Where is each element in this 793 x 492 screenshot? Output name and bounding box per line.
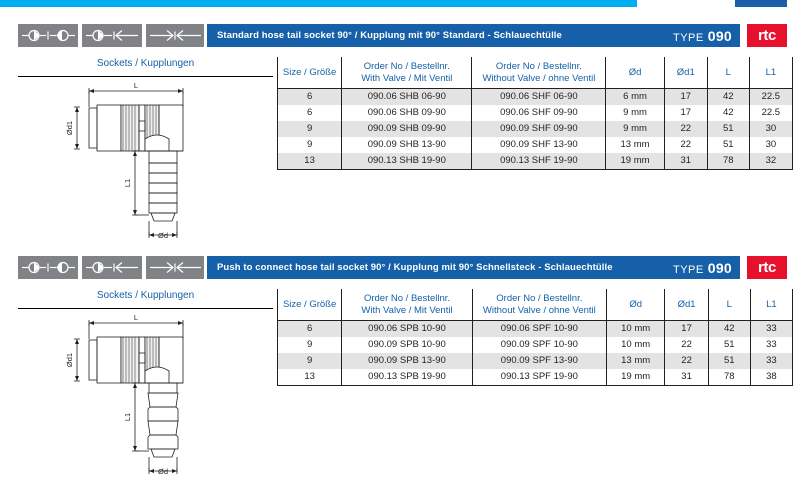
cell-size: 13 [278, 153, 342, 169]
cell-size: 13 [278, 369, 342, 385]
flow-arrows-symbol-icon [146, 256, 206, 279]
technical-drawing-standard: L Ød1 L1 Ød [18, 77, 273, 257]
drawing-panel-title: Sockets / Kupplungen [18, 282, 273, 309]
table-header-row: Size / Größe Order No / Bestellnr. With … [278, 57, 793, 89]
cell-l1: 22.5 [749, 105, 792, 121]
section-push-to-connect: Push to connect hose tail socket 90° / K… [0, 256, 793, 492]
cell-l: 78 [707, 153, 749, 169]
cell-od1: 22 [664, 137, 707, 153]
cell-l: 78 [708, 369, 750, 385]
cell-od1: 22 [664, 121, 707, 137]
cell-order-with-valve: 090.13 SHB 19-90 [342, 153, 472, 169]
cell-order-without-valve: 090.06 SHF 06-90 [472, 89, 606, 105]
cell-l1: 22.5 [749, 89, 792, 105]
cell-order-without-valve: 090.13 SHF 19-90 [472, 153, 606, 169]
top-accent-bar-navy [735, 0, 787, 7]
section-header-bar: Standard hose tail socket 90° / Kupplung… [0, 24, 793, 47]
cell-l1: 33 [750, 337, 792, 353]
cell-order-with-valve: 090.06 SPB 10-90 [342, 321, 473, 337]
col-header-order-with-valve: Order No / Bestellnr. With Valve / Mit V… [342, 289, 473, 321]
col-header-l: L [708, 289, 750, 321]
col-header-l1: L1 [749, 57, 792, 89]
rtc-logo: rtc [747, 24, 787, 47]
cell-l: 51 [708, 337, 750, 353]
coupling-half-symbol-icon [82, 24, 144, 47]
cell-od1: 17 [665, 321, 708, 337]
col-header-order-without-valve: Order No / Bestellnr. Without Valve / oh… [472, 57, 606, 89]
table-row: 9090.09 SHB 09-90090.09 SHF 09-909 mm225… [278, 121, 793, 137]
cell-order-without-valve: 090.09 SPF 10-90 [472, 337, 606, 353]
cell-l: 42 [707, 105, 749, 121]
cell-l1: 38 [750, 369, 792, 385]
dim-label-od: Ød [157, 467, 167, 476]
cell-od1: 22 [665, 337, 708, 353]
cell-order-with-valve: 090.09 SPB 13-90 [342, 353, 473, 369]
cell-od1: 31 [664, 153, 707, 169]
cell-order-with-valve: 090.13 SPB 19-90 [342, 369, 473, 385]
cell-l: 51 [707, 121, 749, 137]
dim-label-od: Ød [157, 231, 167, 240]
cell-order-without-valve: 090.06 SPF 10-90 [472, 321, 606, 337]
type-badge: TYPE 090 [673, 260, 732, 276]
col-header-od1: Ød1 [664, 57, 707, 89]
rtc-logo-text: rtc [758, 260, 776, 275]
cell-size: 6 [278, 105, 342, 121]
cell-order-with-valve: 090.09 SPB 10-90 [342, 337, 473, 353]
cell-l1: 30 [749, 121, 792, 137]
rtc-logo: rtc [747, 256, 787, 279]
cell-order-without-valve: 090.09 SHF 13-90 [472, 137, 606, 153]
table-row: 9090.09 SPB 10-90090.09 SPF 10-9010 mm22… [278, 337, 793, 353]
section-title-bar: Push to connect hose tail socket 90° / K… [207, 256, 740, 279]
col-header-od: Ød [606, 289, 665, 321]
table-row: 13090.13 SHB 19-90090.13 SHF 19-9019 mm3… [278, 153, 793, 169]
cell-od: 10 mm [606, 321, 665, 337]
table-body: 6090.06 SPB 10-90090.06 SPF 10-9010 mm17… [278, 321, 793, 386]
cell-l: 42 [707, 89, 749, 105]
section-title: Push to connect hose tail socket 90° / K… [217, 263, 613, 273]
cell-l: 42 [708, 321, 750, 337]
cell-order-without-valve: 090.09 SHF 09-90 [472, 121, 606, 137]
cell-od: 9 mm [606, 121, 664, 137]
dim-label-l: L [133, 313, 137, 322]
cell-order-without-valve: 090.13 SPF 19-90 [472, 369, 606, 385]
cell-od: 13 mm [606, 137, 664, 153]
table-row: 9090.09 SHB 13-90090.09 SHF 13-9013 mm22… [278, 137, 793, 153]
col-header-size: Size / Größe [278, 57, 342, 89]
type-badge: TYPE 090 [673, 28, 732, 44]
table-row: 6090.06 SPB 10-90090.06 SPF 10-9010 mm17… [278, 321, 793, 337]
drawing-panel-title: Sockets / Kupplungen [18, 50, 273, 77]
dim-label-od1: Ød1 [65, 121, 74, 135]
table-row: 6090.06 SHB 06-90090.06 SHF 06-906 mm174… [278, 89, 793, 105]
dim-label-l1: L1 [123, 179, 132, 187]
cell-od: 6 mm [606, 89, 664, 105]
cell-order-with-valve: 090.09 SHB 13-90 [342, 137, 472, 153]
cell-order-with-valve: 090.06 SHB 09-90 [342, 105, 472, 121]
cell-order-without-valve: 090.06 SHF 09-90 [472, 105, 606, 121]
cell-od1: 31 [665, 369, 708, 385]
section-standard: Standard hose tail socket 90° / Kupplung… [0, 24, 793, 246]
coupling-connected-symbol-icon [18, 24, 80, 47]
cell-od1: 17 [664, 89, 707, 105]
cell-od: 19 mm [606, 153, 664, 169]
spec-table-push-to-connect: Size / Größe Order No / Bestellnr. With … [277, 289, 793, 386]
coupling-half-symbol-icon [82, 256, 144, 279]
cell-order-without-valve: 090.09 SPF 13-90 [472, 353, 606, 369]
table-row: 9090.09 SPB 13-90090.09 SPF 13-9013 mm22… [278, 353, 793, 369]
rtc-logo-text: rtc [758, 28, 776, 43]
type-number: 090 [708, 260, 732, 276]
cell-order-with-valve: 090.09 SHB 09-90 [342, 121, 472, 137]
col-header-l1: L1 [750, 289, 792, 321]
table-row: 6090.06 SHB 09-90090.06 SHF 09-909 mm174… [278, 105, 793, 121]
col-header-l: L [707, 57, 749, 89]
col-header-od1: Ød1 [665, 289, 708, 321]
coupling-connected-symbol-icon [18, 256, 80, 279]
table-head: Size / Größe Order No / Bestellnr. With … [278, 57, 793, 89]
cell-size: 6 [278, 321, 342, 337]
drawing-panel-push-to-connect: Sockets / Kupplungen [18, 282, 273, 489]
type-number: 090 [708, 28, 732, 44]
cell-od: 9 mm [606, 105, 664, 121]
cell-l: 51 [707, 137, 749, 153]
dim-label-l1: L1 [123, 413, 132, 421]
dim-label-l: L [133, 81, 137, 90]
cell-od1: 22 [665, 353, 708, 369]
dim-label-od1: Ød1 [65, 353, 74, 367]
type-label: TYPE [673, 32, 704, 44]
col-header-size: Size / Größe [278, 289, 342, 321]
table-header-row: Size / Größe Order No / Bestellnr. With … [278, 289, 793, 321]
table-body: 6090.06 SHB 06-90090.06 SHF 06-906 mm174… [278, 89, 793, 169]
drawing-panel-standard: Sockets / Kupplungen [18, 50, 273, 257]
cell-order-with-valve: 090.06 SHB 06-90 [342, 89, 472, 105]
col-header-order-without-valve: Order No / Bestellnr. Without Valve / oh… [472, 289, 606, 321]
table-head: Size / Größe Order No / Bestellnr. With … [278, 289, 793, 321]
col-header-od: Ød [606, 57, 664, 89]
table-row: 13090.13 SPB 19-90090.13 SPF 19-9019 mm3… [278, 369, 793, 385]
section-title: Standard hose tail socket 90° / Kupplung… [217, 31, 562, 41]
section-header-bar: Push to connect hose tail socket 90° / K… [0, 256, 793, 279]
datasheet-page: { "page": { "accent_cyan": "#00aeef", "a… [0, 0, 793, 492]
cell-l1: 33 [750, 353, 792, 369]
cell-l1: 33 [750, 321, 792, 337]
cell-od: 10 mm [606, 337, 665, 353]
flow-arrows-symbol-icon [146, 24, 206, 47]
cell-od: 13 mm [606, 353, 665, 369]
cell-od1: 17 [664, 105, 707, 121]
cell-size: 6 [278, 89, 342, 105]
spec-table-standard: Size / Größe Order No / Bestellnr. With … [277, 57, 793, 170]
type-label: TYPE [673, 264, 704, 276]
cell-l1: 32 [749, 153, 792, 169]
cell-size: 9 [278, 121, 342, 137]
section-title-bar: Standard hose tail socket 90° / Kupplung… [207, 24, 740, 47]
cell-size: 9 [278, 353, 342, 369]
cell-od: 19 mm [606, 369, 665, 385]
cell-size: 9 [278, 137, 342, 153]
cell-l: 51 [708, 353, 750, 369]
technical-drawing-push-to-connect: L Ød1 L1 Ød [18, 309, 273, 489]
col-header-order-with-valve: Order No / Bestellnr. With Valve / Mit V… [342, 57, 472, 89]
top-accent-bar-cyan [0, 0, 637, 7]
cell-l1: 30 [749, 137, 792, 153]
cell-size: 9 [278, 337, 342, 353]
